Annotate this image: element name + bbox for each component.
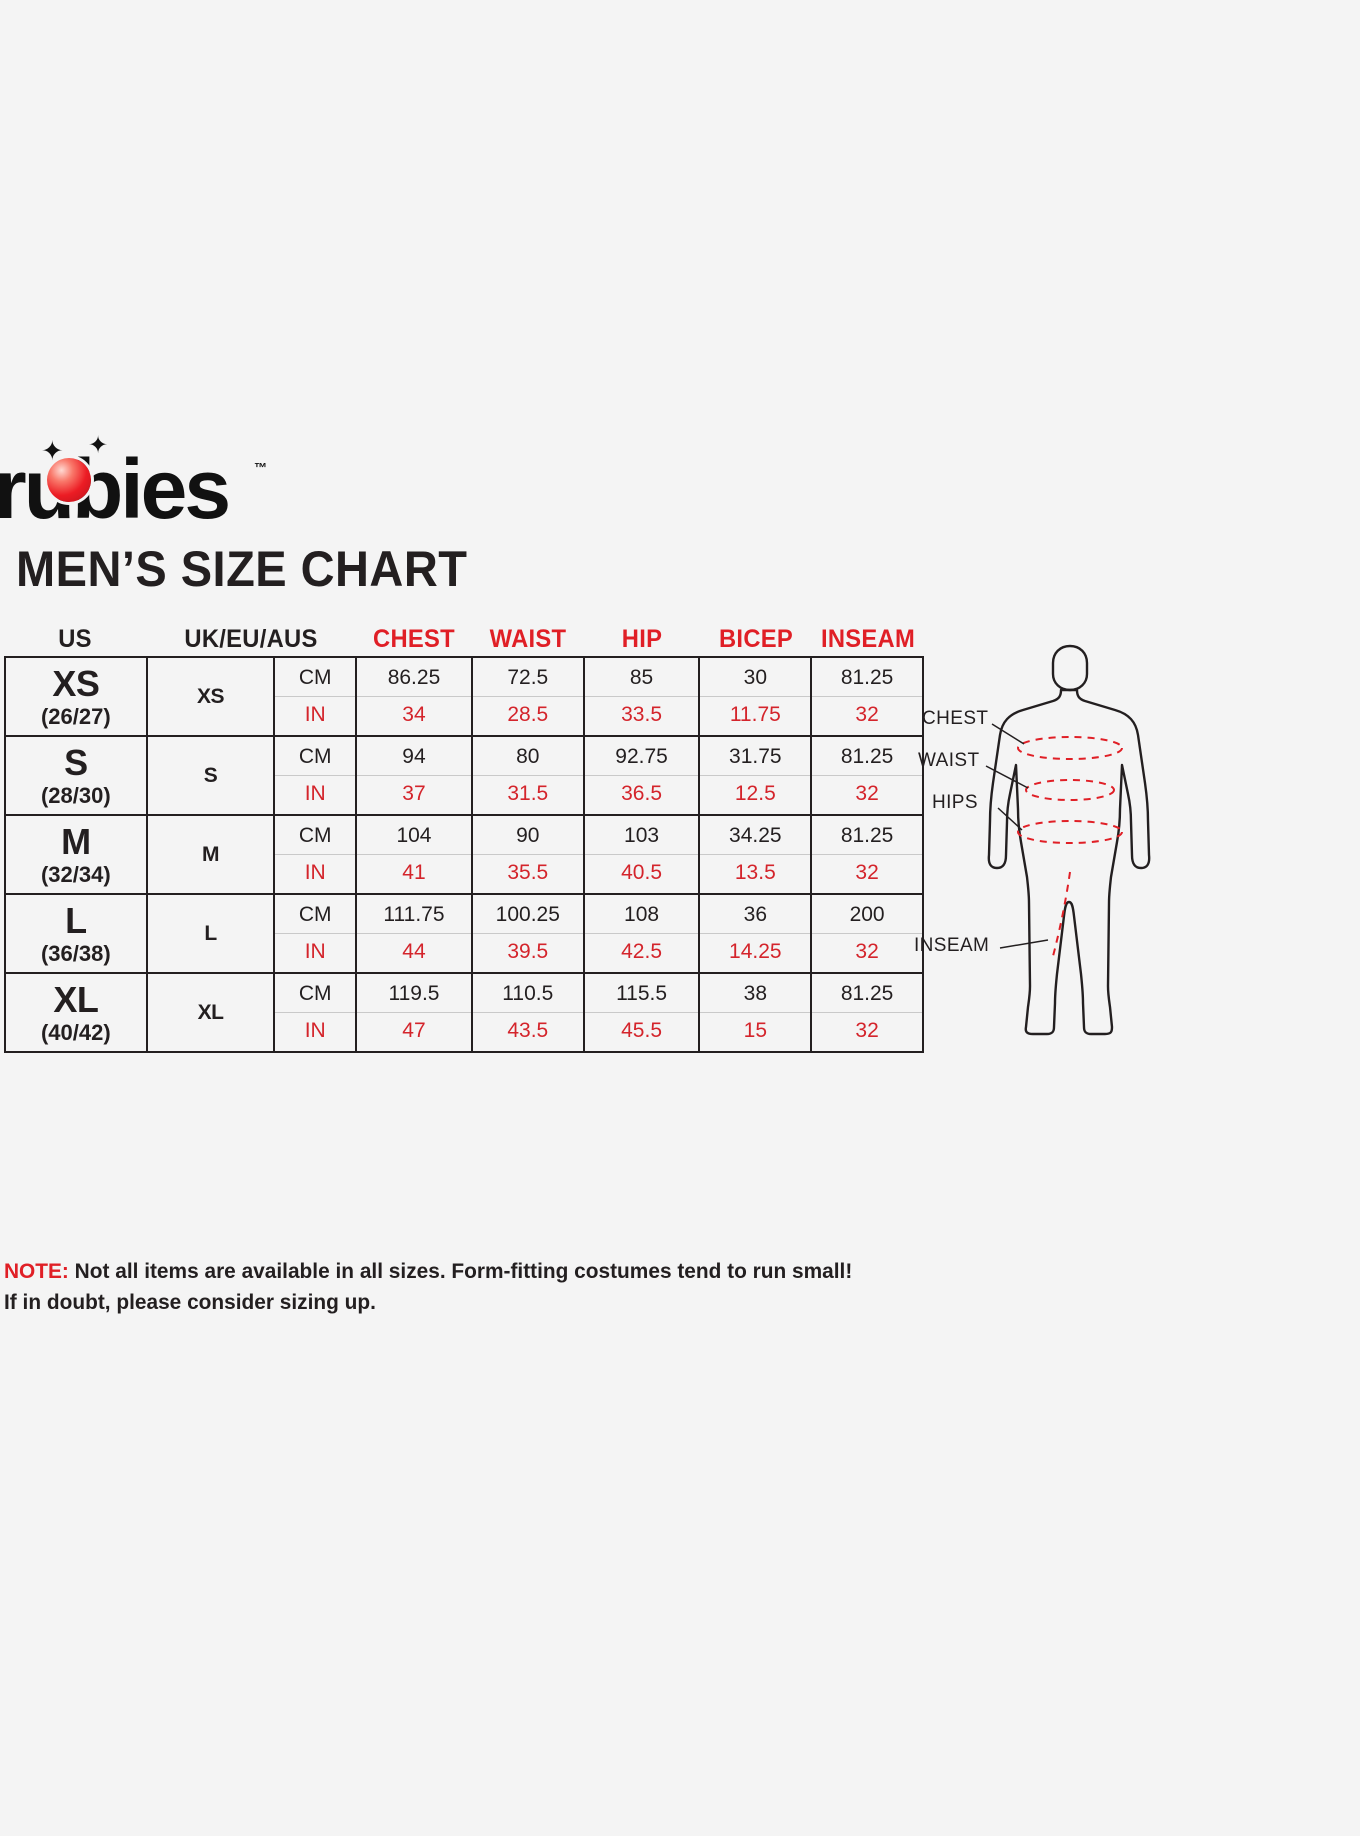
cell-uk-size: XS: [147, 657, 275, 736]
cell-bicep-in: 11.75: [699, 697, 811, 737]
table-row: L (36/38) L CM 111.75 100.25 108 36 200 …: [5, 894, 923, 973]
rubies-logo: ✦ ✦ rubies ™: [0, 444, 300, 534]
cell-chest-in: 41: [356, 855, 472, 895]
cell-bicep-cm: 30: [699, 657, 811, 697]
cell-uk-size: L: [147, 894, 275, 973]
cell-waist-in: 28.5: [472, 697, 584, 737]
column-header-inseam: INSEAM: [815, 625, 921, 654]
cell-inseam-in: 32: [811, 697, 923, 737]
cell-bicep-cm: 38: [699, 973, 811, 1013]
cell-unit-in: IN: [274, 1013, 356, 1053]
cell-hip-in: 33.5: [584, 697, 700, 737]
column-header-hip: HIP: [587, 625, 697, 654]
cell-us-size: L (36/38): [5, 894, 147, 973]
cell-unit-in: IN: [274, 855, 356, 895]
cell-hip-in: 45.5: [584, 1013, 700, 1053]
measurement-guides: [1018, 737, 1122, 960]
cell-chest-cm: 86.25: [356, 657, 472, 697]
table-row: XS (26/27) XS CM 86.25 72.5 85 30 81.25 …: [5, 657, 923, 736]
cell-waist-cm: 100.25: [472, 894, 584, 934]
note-text: NOTE: Not all items are available in all…: [4, 1256, 906, 1317]
cell-unit-in: IN: [274, 934, 356, 974]
cell-unit-cm: CM: [274, 973, 356, 1013]
cell-inseam-cm: 81.25: [811, 973, 923, 1013]
cell-unit-cm: CM: [274, 815, 356, 855]
cell-us-size: S (28/30): [5, 736, 147, 815]
cell-chest-cm: 104: [356, 815, 472, 855]
cell-hip-cm: 85: [584, 657, 700, 697]
cell-hip-cm: 92.75: [584, 736, 700, 776]
cell-chest-in: 37: [356, 776, 472, 816]
cell-us-size: M (32/34): [5, 815, 147, 894]
diagram-label-hips: HIPS: [932, 792, 978, 814]
cell-uk-size: M: [147, 815, 275, 894]
size-chart-page: ✦ ✦ rubies ™ MEN’S SIZE CHART US UK/EU/A…: [0, 0, 1360, 1836]
cell-inseam-cm: 81.25: [811, 657, 923, 697]
page-title: MEN’S SIZE CHART: [16, 540, 467, 598]
cell-inseam-cm: 200: [811, 894, 923, 934]
cell-chest-in: 44: [356, 934, 472, 974]
cell-waist-cm: 80: [472, 736, 584, 776]
cell-chest-in: 34: [356, 697, 472, 737]
cell-uk-size: S: [147, 736, 275, 815]
cell-unit-in: IN: [274, 776, 356, 816]
column-header-chest: CHEST: [359, 625, 469, 654]
column-header-waist: WAIST: [475, 625, 581, 654]
cell-hip-in: 40.5: [584, 855, 700, 895]
leader-chest: [992, 724, 1024, 744]
leader-inseam: [1000, 940, 1048, 948]
hips-measure-line: [1018, 821, 1122, 843]
body-outline: [989, 646, 1149, 1034]
cell-hip-cm: 115.5: [584, 973, 700, 1013]
cell-waist-cm: 72.5: [472, 657, 584, 697]
cell-inseam-cm: 81.25: [811, 736, 923, 776]
trademark-symbol: ™: [254, 460, 267, 475]
cell-chest-cm: 119.5: [356, 973, 472, 1013]
cell-bicep-cm: 36: [699, 894, 811, 934]
leader-lines: [986, 724, 1048, 948]
size-chart-table: XS (26/27) XS CM 86.25 72.5 85 30 81.25 …: [4, 656, 924, 1053]
cell-inseam-in: 32: [811, 855, 923, 895]
cell-bicep-in: 15: [699, 1013, 811, 1053]
cell-inseam-in: 32: [811, 934, 923, 974]
diagram-label-inseam: INSEAM: [914, 935, 989, 957]
cell-inseam-in: 32: [811, 1013, 923, 1053]
cell-chest-cm: 111.75: [356, 894, 472, 934]
diagram-label-chest: CHEST: [922, 708, 988, 730]
table-row: XL (40/42) XL CM 119.5 110.5 115.5 38 81…: [5, 973, 923, 1052]
cell-unit-cm: CM: [274, 894, 356, 934]
note-line-1: Not all items are available in all sizes…: [69, 1259, 852, 1283]
waist-measure-line: [1026, 780, 1114, 800]
cell-us-size: XS (26/27): [5, 657, 147, 736]
cell-bicep-in: 14.25: [699, 934, 811, 974]
table-row: M (32/34) M CM 104 90 103 34.25 81.25 IN…: [5, 815, 923, 894]
column-header-uk: UK/EU/AUS: [151, 625, 351, 654]
cell-bicep-in: 13.5: [699, 855, 811, 895]
table-header-row: US UK/EU/AUS CHEST WAIST HIP BICEP INSEA…: [4, 616, 924, 654]
cell-waist-in: 31.5: [472, 776, 584, 816]
note-label: NOTE:: [4, 1259, 69, 1283]
cell-chest-cm: 94: [356, 736, 472, 776]
cell-hip-in: 42.5: [584, 934, 700, 974]
table-row: S (28/30) S CM 94 80 92.75 31.75 81.25 I…: [5, 736, 923, 815]
cell-waist-in: 43.5: [472, 1013, 584, 1053]
diagram-label-waist: WAIST: [918, 750, 979, 772]
chest-measure-line: [1018, 737, 1122, 759]
cell-unit-cm: CM: [274, 657, 356, 697]
cell-hip-cm: 108: [584, 894, 700, 934]
cell-bicep-in: 12.5: [699, 776, 811, 816]
cell-chest-in: 47: [356, 1013, 472, 1053]
cell-waist-cm: 110.5: [472, 973, 584, 1013]
cell-us-size: XL (40/42): [5, 973, 147, 1052]
cell-hip-cm: 103: [584, 815, 700, 855]
cell-bicep-cm: 31.75: [699, 736, 811, 776]
cell-waist-in: 35.5: [472, 855, 584, 895]
brand-name: rubies: [0, 444, 294, 534]
column-header-bicep: BICEP: [703, 625, 809, 654]
cell-bicep-cm: 34.25: [699, 815, 811, 855]
ruby-sphere-icon: [47, 458, 91, 502]
cell-inseam-cm: 81.25: [811, 815, 923, 855]
body-silhouette-svg: [930, 640, 1350, 1110]
cell-unit-cm: CM: [274, 736, 356, 776]
cell-waist-cm: 90: [472, 815, 584, 855]
cell-unit-in: IN: [274, 697, 356, 737]
cell-waist-in: 39.5: [472, 934, 584, 974]
note-line-2: If in doubt, please consider sizing up.: [4, 1290, 376, 1314]
body-measurement-diagram: CHEST WAIST HIPS INSEAM: [930, 640, 1350, 1110]
cell-uk-size: XL: [147, 973, 275, 1052]
cell-hip-in: 36.5: [584, 776, 700, 816]
cell-inseam-in: 32: [811, 776, 923, 816]
column-header-us: US: [8, 625, 143, 654]
